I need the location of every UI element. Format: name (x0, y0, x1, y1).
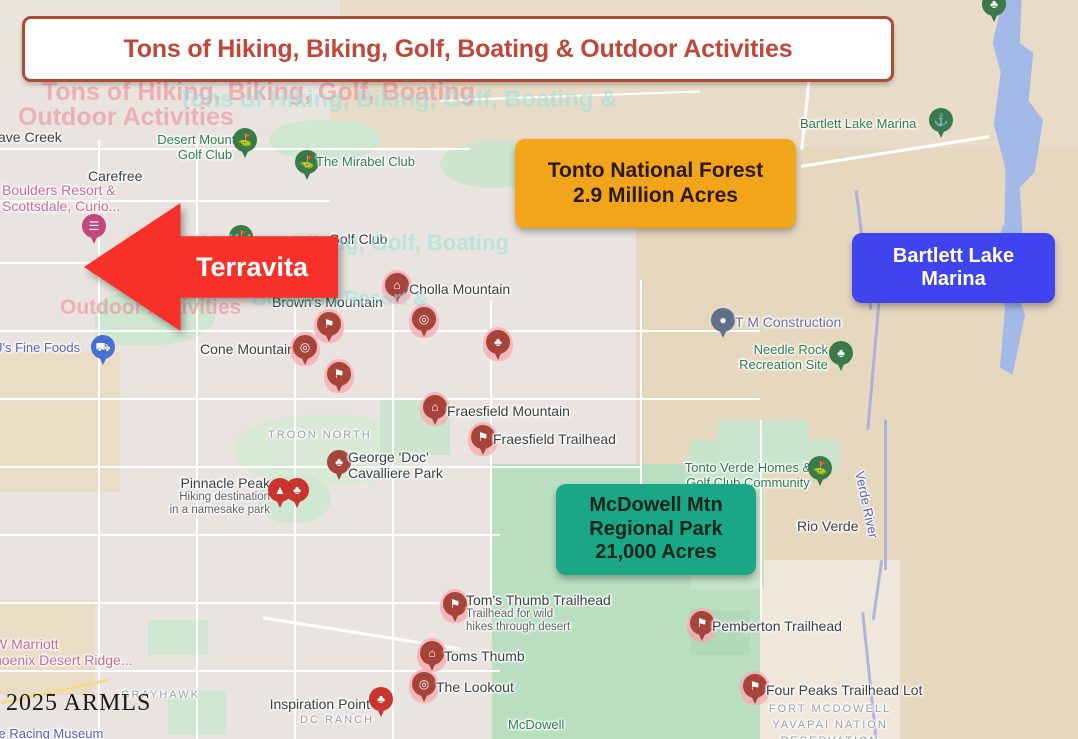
label-the-lookout: The Lookout (436, 679, 514, 695)
tm-construction-pin[interactable]: ● (711, 308, 735, 340)
cholla-mountain-pin[interactable]: ⌂ (385, 273, 409, 305)
callout-tonto-national-forest[interactable]: Tonto National Forest 2.9 Million Acres (515, 139, 796, 228)
label-ajs-fine-foods: J's Fine Foods (0, 341, 80, 356)
park-icon: ♣ (982, 0, 1006, 16)
callout-mcdowell-mountain-regional-park[interactable]: McDowell Mtn Regional Park 21,000 Acres (556, 484, 756, 575)
mountain-peak-icon: ⌂ (385, 273, 409, 297)
fraesfield-trailhead-pin[interactable]: ⚑ (471, 425, 495, 457)
armls-watermark: 2025 ARMLS (6, 690, 151, 717)
road-v-7 (760, 420, 762, 620)
label-fraesfield-trailhead: Fraesfield Trailhead (493, 431, 616, 447)
camera-icon: ◎ (412, 307, 436, 331)
label-cavalliere-park-line1: George 'Doc' (348, 449, 443, 465)
camera-icon: ◎ (293, 335, 317, 359)
terrain-desert-farright (900, 600, 1078, 739)
bartlett-top-pin[interactable]: ♣ (982, 0, 1006, 24)
shopping-cart-icon: ⛟ (91, 335, 115, 359)
label-the-mirabel-club: The Mirabel Club (316, 155, 415, 170)
toms-thumb-trailhead-pin[interactable]: ⚑ (443, 592, 467, 624)
label-fort-mcdowell-line1: FORT MCDOWELL (735, 702, 925, 718)
label-pinnacle-peak-sub2: in a namesake park (150, 504, 270, 517)
label-pinnacle-peak: Pinnacle Peak (150, 475, 270, 491)
map-screenshot: ave Creek Carefree Desert Mountain Golf … (0, 0, 1078, 739)
callout-mcdowell-line3: 21,000 Acres (595, 541, 717, 564)
browns-ranch-trail-pin[interactable]: ⚑ (327, 362, 351, 394)
needle-rock-pin[interactable]: ♣ (829, 341, 853, 373)
hiker-icon: ⚑ (443, 592, 467, 616)
terravita-arrow-label: Terravita (166, 203, 338, 331)
label-toms-thumb: Toms Thumb (444, 648, 525, 664)
label-pinnacle-peak-sub1: Hiking destination (150, 491, 270, 504)
label-tm-construction: T M Construction (735, 314, 841, 330)
road-h-10 (640, 330, 760, 332)
label-boulders-resort-line1: Boulders Resort & (2, 182, 120, 198)
park-polygon-grayhawk-a (148, 620, 208, 655)
tree-icon: ♣ (285, 478, 309, 502)
label-fort-mcdowell-line2: YAVAPAI NATION (735, 718, 925, 734)
road-v-4 (392, 300, 394, 739)
tonto-verde-golf-pin[interactable]: ⛳ (808, 456, 832, 488)
hiker-icon: ⚑ (327, 362, 351, 386)
hiker-icon: ⚑ (743, 674, 767, 698)
desert-mountain-golf-pin[interactable]: ⛳ (233, 128, 257, 160)
label-rio-verde: Rio Verde (797, 518, 858, 534)
tree-icon: ♣ (327, 450, 351, 474)
label-needle-rock-line2: Recreation Site (720, 358, 828, 373)
park-polygon-north (718, 420, 808, 464)
label-mcdowell-bottom: McDowell (508, 718, 564, 733)
road-h-11 (640, 398, 760, 400)
label-toms-thumb-trailhead: Tom's Thumb Trailhead (466, 592, 611, 608)
mountain-peak-icon: ⌂ (423, 395, 447, 419)
label-fraesfield-mountain: Fraesfield Mountain (447, 403, 570, 419)
pinnacle-peak-pin-b[interactable]: ♣ (285, 478, 309, 510)
mountain-peak-icon: ⌂ (420, 641, 444, 665)
terrain-desert-lowerleft (0, 352, 120, 492)
callout-mcdowell-line2: Regional Park (589, 518, 722, 541)
label-inspiration-point: Inspiration Point (250, 696, 370, 712)
label-troon-north: TROON NORTH (268, 429, 372, 442)
hiker-icon: ⚑ (471, 425, 495, 449)
tree-icon: ♣ (486, 330, 510, 354)
granite-mountain-trailhead-pin[interactable]: ♣ (486, 330, 510, 362)
callout-tonto-line1: Tonto National Forest (548, 159, 763, 184)
verde-river-line-a (884, 420, 887, 570)
label-pemberton-trailhead: Pemberton Trailhead (712, 618, 842, 634)
label-jw-marriott-line2: hoenix Desert Ridge... (0, 652, 133, 668)
pemberton-trailhead-pin[interactable]: ⚑ (690, 611, 714, 643)
label-dc-ranch: DC RANCH (300, 714, 374, 727)
cone-mountain-pin[interactable]: ◎ (293, 335, 317, 367)
mirabel-club-pin[interactable]: ⛳ (295, 150, 319, 182)
terravita-arrow[interactable]: Terravita (84, 203, 338, 331)
golf-icon: ⛳ (233, 128, 257, 152)
fraesfield-mountain-pin[interactable]: ⌂ (423, 395, 447, 427)
label-cone-mountain: Cone Mountain (200, 341, 295, 357)
viewpoint-pin[interactable]: ◎ (412, 307, 436, 339)
bartlett-lake-marina-pin[interactable]: ⚓ (929, 108, 953, 140)
golf-icon: ⛳ (295, 150, 319, 174)
label-cavalliere-park-line2: Cavalliere Park (348, 465, 443, 481)
title-banner-text: Tons of Hiking, Biking, Golf, Boating & … (124, 35, 793, 64)
place-dot-icon: ● (711, 308, 735, 332)
label-cholla-mountain: Cholla Mountain (409, 281, 510, 297)
camera-icon: ◎ (412, 672, 436, 696)
label-cave-creek: ave Creek (0, 129, 62, 145)
label-bartlett-lake-marina: Bartlett Lake Marina (800, 117, 916, 132)
title-banner: Tons of Hiking, Biking, Golf, Boating & … (22, 16, 894, 82)
label-racing-museum: ke Racing Museum (0, 727, 103, 739)
road-h-7 (0, 602, 500, 604)
callout-bartlett-lake-marina[interactable]: Bartlett Lake Marina (852, 233, 1055, 303)
the-lookout-pin[interactable]: ◎ (412, 672, 436, 704)
label-jw-marriott-line1: W Marriott (0, 636, 133, 652)
hiker-icon: ⚑ (690, 611, 714, 635)
label-four-peaks-trailhead-lot: Four Peaks Trailhead Lot (766, 682, 922, 698)
callout-bartlett-line2: Marina (921, 268, 985, 291)
road-h-6 (0, 534, 500, 536)
callout-bartlett-line1: Bartlett Lake (893, 245, 1014, 268)
ajs-fine-foods-pin[interactable]: ⛟ (91, 335, 115, 367)
golf-icon: ⛳ (808, 456, 832, 480)
callout-tonto-line2: 2.9 Million Acres (573, 184, 738, 209)
label-fort-mcdowell-line3: RESERVATION (735, 734, 925, 739)
marina-icon: ⚓ (929, 108, 953, 132)
label-toms-thumb-trailhead-sub2: hikes through desert (466, 621, 611, 634)
label-needle-rock-line1: Needle Rock (720, 343, 828, 358)
tree-icon: ♣ (829, 341, 853, 365)
tree-icon: ♣ (369, 687, 393, 711)
label-toms-thumb-trailhead-sub1: Trailhead for wild (466, 608, 611, 621)
callout-mcdowell-line1: McDowell Mtn (589, 494, 722, 517)
road-h-5 (0, 466, 640, 468)
road-h-4 (0, 398, 640, 400)
